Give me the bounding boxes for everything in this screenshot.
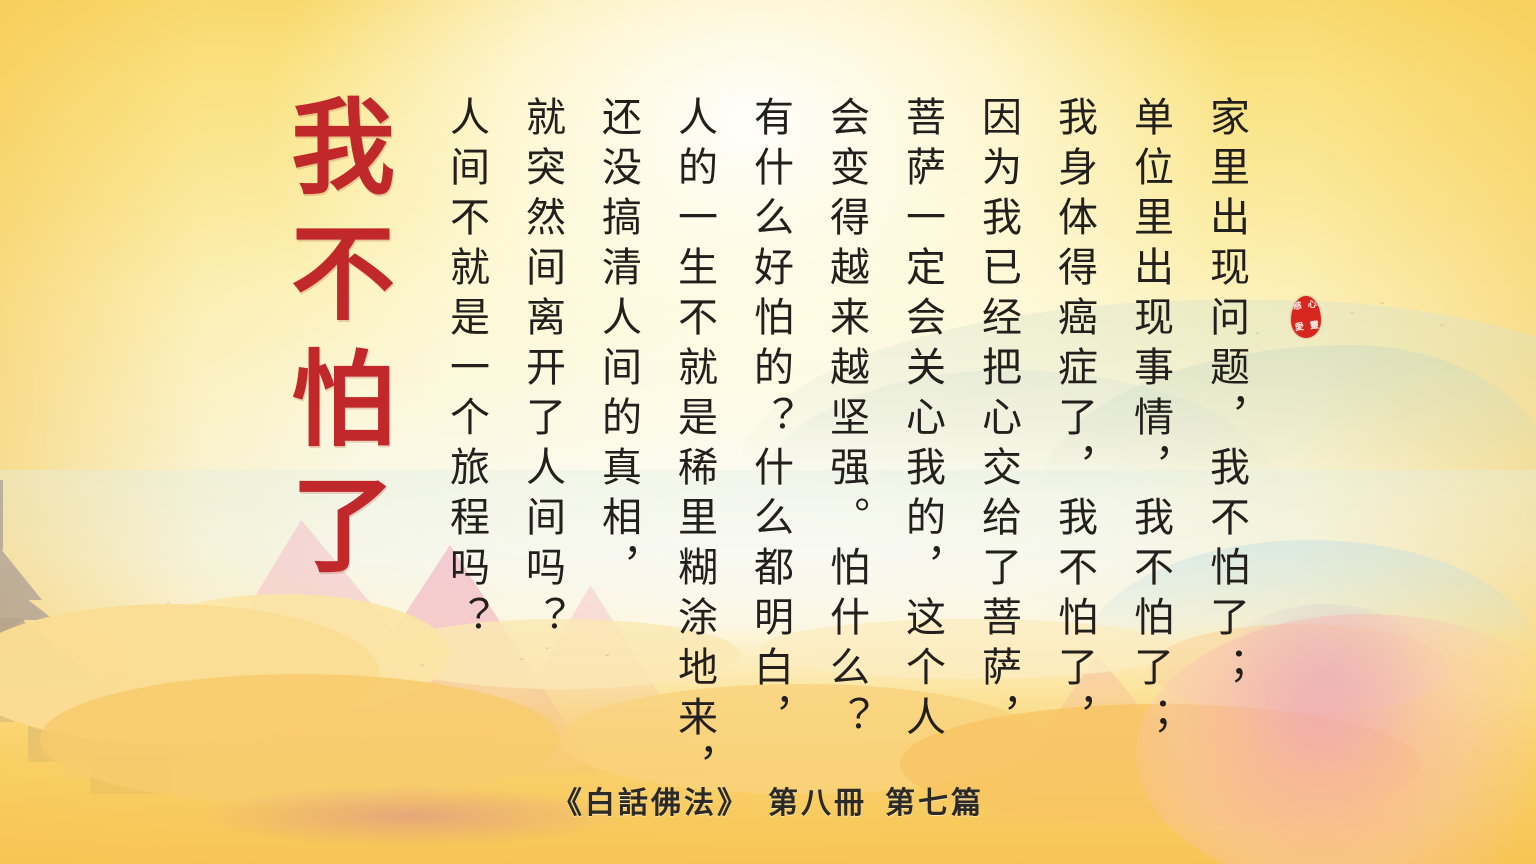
text-column-11: 人间不就是一个旅程吗？ — [410, 96, 486, 776]
text-column-3: 我身体得癌症了，我不怕了， — [1018, 96, 1094, 776]
poster-canvas: ˇˇˇˇˇˇˇˇ 我 不 怕 了 家里出现问题，我不怕了；单位里出现事情，我不怕… — [0, 0, 1536, 864]
citation-book-title: 《白話佛法》 — [552, 786, 750, 821]
text-column-2: 单位里出现事情，我不怕了； — [1094, 96, 1170, 776]
bird-icon-1: ˇ — [1380, 300, 1384, 313]
title-char-2: 不 — [291, 222, 395, 326]
text-column-4: 因为我已经把心交给了菩萨， — [942, 96, 1018, 776]
text-column-6: 会变得越来越坚强。怕什么？ — [790, 96, 866, 776]
bird-icon-3: ˇ — [1255, 330, 1259, 343]
seal-char-2: 愛 — [1295, 323, 1305, 333]
poster-title: 我 不 怕 了 — [268, 96, 418, 578]
bird-icon-2: ˇ — [1440, 322, 1444, 335]
seal-char-4: 靈 — [1310, 322, 1320, 332]
text-column-8: 人的一生不就是稀里糊涂地来， — [638, 96, 714, 776]
citation-chapter: 第七篇 — [885, 786, 984, 821]
title-char-1: 我 — [291, 96, 395, 200]
seal-char-1: 慈 — [1292, 302, 1302, 312]
seal-char-3: 心 — [1307, 301, 1317, 311]
vertical-text-body: 家里出现问题，我不怕了；单位里出现事情，我不怕了；我身体得癌症了，我不怕了，因为… — [410, 96, 1246, 776]
text-column-10: 就突然间离开了人间吗？ — [486, 96, 562, 776]
text-column-7: 有什么好怕的？什么都明白， — [714, 96, 790, 776]
text-column-9: 还没搞清人间的真相， — [562, 96, 638, 776]
title-char-4: 了 — [291, 474, 395, 578]
title-char-3: 怕 — [291, 348, 395, 452]
citation-volume: 第八冊 — [768, 786, 867, 821]
red-seal-stamp: 慈 心 愛 靈 — [1291, 296, 1321, 338]
text-column-5: 菩萨一定会关心我的，这个人 — [866, 96, 942, 776]
source-citation: 《白話佛法》第八冊第七篇 — [0, 778, 1536, 822]
text-column-1: 家里出现问题，我不怕了； — [1170, 96, 1246, 776]
bird-icon-4: ˇ — [1350, 310, 1354, 323]
